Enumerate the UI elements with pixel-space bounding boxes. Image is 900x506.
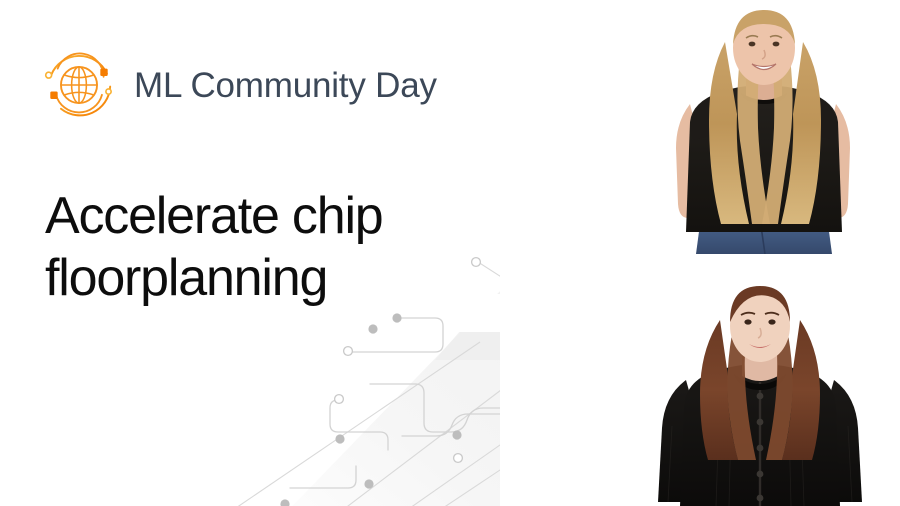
- brand-title: ML Community Day: [134, 68, 437, 103]
- speaker-portrait-2-illustration: [620, 276, 900, 506]
- speaker-photo-woman-auburn-black-cardigan: [620, 276, 900, 506]
- speaker-photo-woman-blonde-black-tshirt: [628, 0, 900, 254]
- brand-lockup: ML Community Day: [38, 44, 437, 126]
- globe-orbit-icon: [38, 44, 120, 126]
- page-title-line-1: Accelerate chip: [45, 185, 475, 247]
- presentation-slide: ML Community Day Accelerate chip floorpl…: [0, 0, 900, 506]
- page-title: Accelerate chip floorplanning: [45, 185, 475, 309]
- page-title-line-2: floorplanning: [45, 247, 475, 309]
- speaker-portrait-1-illustration: [628, 0, 900, 254]
